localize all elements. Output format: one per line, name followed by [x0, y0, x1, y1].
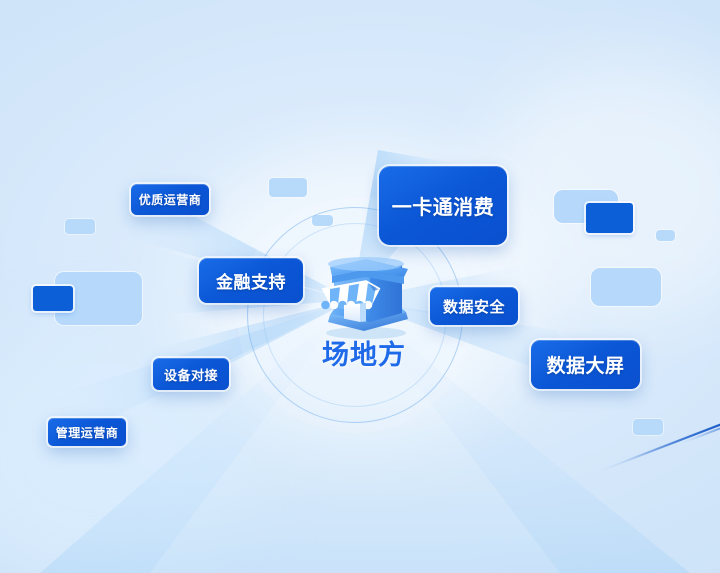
deco-rect-left-small — [65, 219, 95, 234]
deco-rect-left-solid — [33, 286, 73, 311]
deco-rect-right-tiny — [656, 230, 675, 241]
chip-quality-operator[interactable]: 优质运营商 — [131, 184, 209, 215]
chip-yikatong-consumption[interactable]: 一卡通消费 — [379, 166, 507, 245]
deco-rect-bottom-tiny — [633, 419, 663, 435]
storefront-icon — [308, 243, 420, 339]
chip-management-operator[interactable]: 管理运营商 — [48, 418, 126, 446]
chip-data-dashboard[interactable]: 数据大屏 — [531, 340, 640, 389]
deco-rect-mid-top — [269, 178, 307, 197]
illustration-canvas: 场地方 一卡通消费 金融支持 优质运营商 设备对接 管理运营商 数据安全 数据大… — [0, 0, 720, 573]
deco-rect-right-solid — [586, 203, 633, 233]
chip-data-security[interactable]: 数据安全 — [430, 287, 518, 325]
chip-financial-support[interactable]: 金融支持 — [199, 258, 303, 303]
center-label: 场地方 — [300, 333, 428, 372]
deco-rect-right-large — [591, 268, 661, 306]
chip-device-integration[interactable]: 设备对接 — [153, 358, 229, 390]
